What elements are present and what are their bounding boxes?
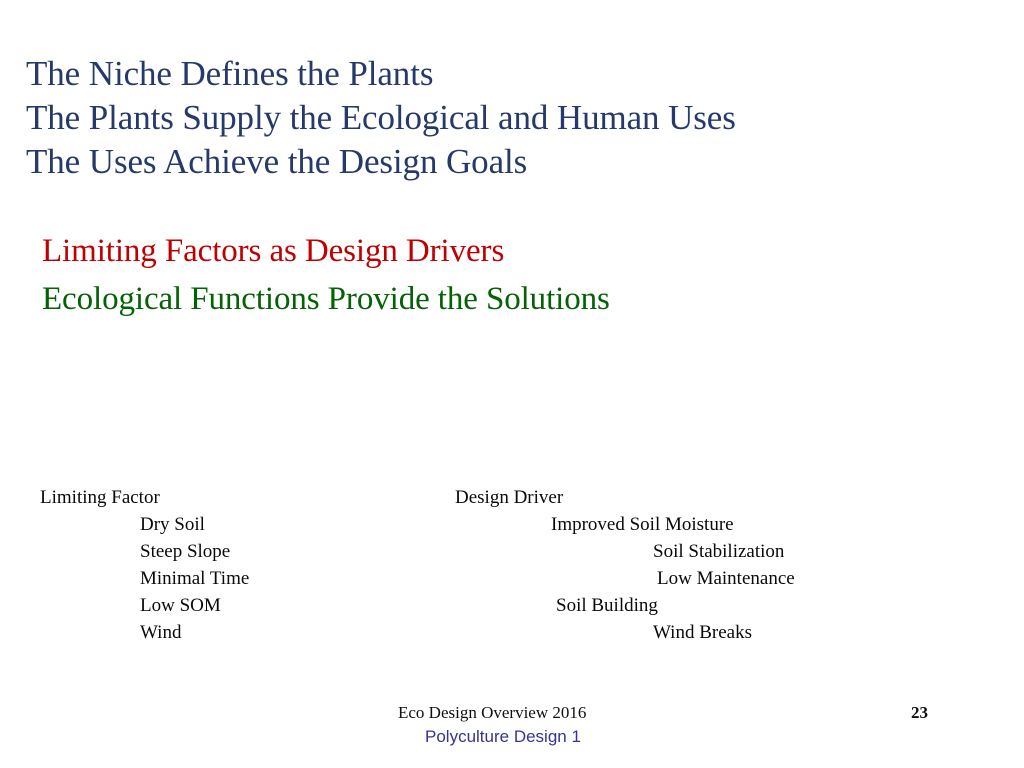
limiting-factor-item-5: Wind bbox=[140, 619, 181, 646]
page-number: 23 bbox=[911, 702, 928, 724]
column-header-design-driver: Design Driver bbox=[455, 484, 563, 511]
subtitle-line-ecological-functions: Ecological Functions Provide the Solutio… bbox=[42, 275, 992, 323]
design-driver-item-5: Wind Breaks bbox=[653, 619, 752, 646]
slide-title: The Niche Defines the Plants The Plants … bbox=[26, 52, 996, 184]
title-line-1: The Niche Defines the Plants bbox=[26, 52, 996, 96]
limiting-factor-item-1: Dry Soil bbox=[140, 511, 205, 538]
column-header-limiting-factor: Limiting Factor bbox=[40, 484, 160, 511]
footer-title: Eco Design Overview 2016 bbox=[398, 702, 586, 724]
slide-footer: Eco Design Overview 2016 Polyculture Des… bbox=[0, 702, 1024, 762]
design-driver-item-4: Soil Building bbox=[556, 592, 658, 619]
slide-subtitle: Limiting Factors as Design Drivers Ecolo… bbox=[42, 227, 992, 323]
subtitle-line-limiting-factors: Limiting Factors as Design Drivers bbox=[42, 227, 992, 275]
limiting-factor-item-4: Low SOM bbox=[140, 592, 221, 619]
design-driver-item-2: Soil Stabilization bbox=[653, 538, 784, 565]
title-line-3: The Uses Achieve the Design Goals bbox=[26, 140, 996, 184]
limiting-factor-item-3: Minimal Time bbox=[140, 565, 249, 592]
footer-subtitle: Polyculture Design 1 bbox=[425, 726, 581, 748]
design-driver-item-1: Improved Soil Moisture bbox=[551, 511, 734, 538]
body-content: Limiting Factor Dry Soil Steep Slope Min… bbox=[0, 484, 1024, 654]
limiting-factor-item-2: Steep Slope bbox=[140, 538, 230, 565]
title-line-2: The Plants Supply the Ecological and Hum… bbox=[26, 96, 996, 140]
design-driver-item-3: Low Maintenance bbox=[657, 565, 795, 592]
slide-canvas: The Niche Defines the Plants The Plants … bbox=[0, 0, 1024, 768]
